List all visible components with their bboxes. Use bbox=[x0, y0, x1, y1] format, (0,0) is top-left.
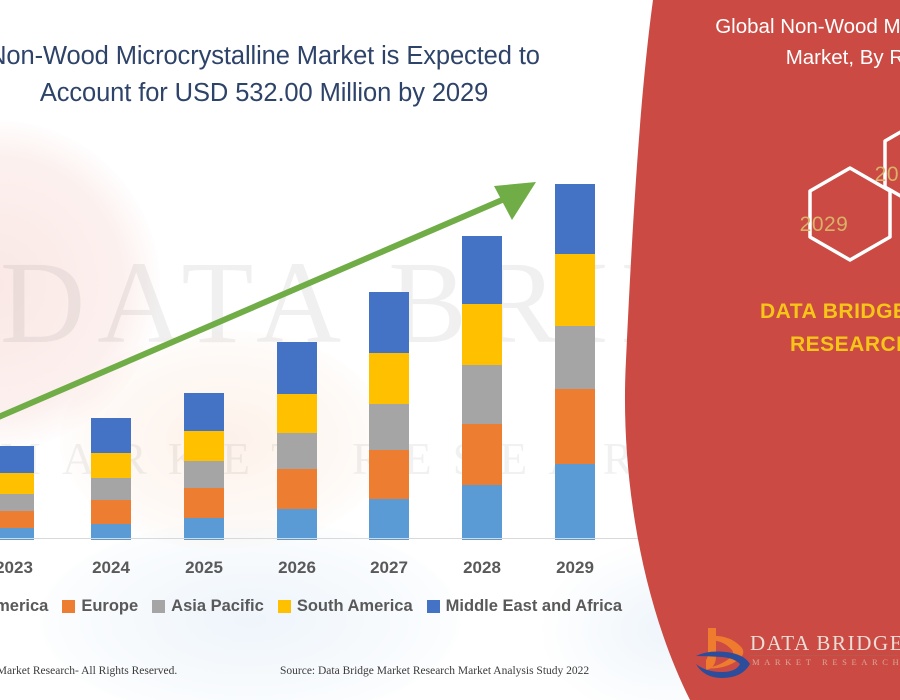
legend-swatch-icon bbox=[152, 600, 165, 613]
stacked-bar-chart bbox=[0, 150, 640, 540]
bar-segment bbox=[277, 433, 317, 469]
bar-segment bbox=[0, 446, 34, 474]
bar-2024 bbox=[91, 418, 131, 540]
bar-segment bbox=[0, 494, 34, 511]
legend-label: South America bbox=[297, 598, 413, 615]
bar-segment bbox=[91, 418, 131, 453]
footer-source: Source: Data Bridge Market Research Mark… bbox=[280, 665, 589, 677]
data-bridge-logo: DATA BRIDGE MARKET RESEARCH bbox=[694, 626, 900, 684]
legend-label: Middle East and Africa bbox=[446, 598, 622, 615]
bar-segment bbox=[555, 326, 595, 389]
hexagon-label-2022: 2022 bbox=[875, 163, 900, 187]
footer-copyright: ...Bridge Market Research- All Rights Re… bbox=[0, 665, 177, 677]
logo-tagline: MARKET RESEARCH bbox=[752, 657, 900, 667]
logo-mark-icon bbox=[694, 626, 754, 684]
bar-2027 bbox=[369, 292, 409, 540]
bar-2028 bbox=[462, 236, 502, 540]
bar-2025 bbox=[184, 393, 224, 541]
panel-brand-line-2: RESEARCH bbox=[790, 333, 900, 357]
x-axis-label-2025: 2025 bbox=[185, 558, 223, 578]
bar-segment bbox=[369, 499, 409, 540]
bar-segment bbox=[462, 424, 502, 485]
page-title: Non-Wood Microcrystalline Market is Expe… bbox=[0, 38, 614, 112]
bar-segment bbox=[184, 488, 224, 518]
bar-segment bbox=[277, 394, 317, 433]
bar-segment bbox=[462, 304, 502, 365]
bar-segment bbox=[555, 389, 595, 465]
legend-item[interactable]: Asia Pacific bbox=[152, 598, 264, 615]
bar-segment bbox=[277, 509, 317, 540]
bar-segment bbox=[184, 518, 224, 540]
legend-swatch-icon bbox=[62, 600, 75, 613]
bar-segment bbox=[462, 365, 502, 424]
legend-swatch-icon bbox=[427, 600, 440, 613]
bar-segment bbox=[277, 469, 317, 508]
bar-segment bbox=[369, 353, 409, 404]
bar-segment bbox=[369, 450, 409, 499]
chart-legend: North AmericaEuropeAsia PacificSouth Ame… bbox=[0, 598, 640, 615]
bar-segment bbox=[369, 292, 409, 353]
bar-segment bbox=[91, 500, 131, 525]
x-axis-label-2028: 2028 bbox=[463, 558, 501, 578]
logo-wordmark: DATA BRIDGE bbox=[750, 631, 900, 656]
bar-2023 bbox=[0, 446, 34, 540]
bar-2026 bbox=[277, 342, 317, 540]
slide-canvas: DATA BRIDGE MARKET RESEARCH Non-Wood Mic… bbox=[0, 0, 900, 700]
x-axis-label-2029: 2029 bbox=[556, 558, 594, 578]
legend-item[interactable]: Europe bbox=[62, 598, 138, 615]
legend-swatch-icon bbox=[278, 600, 291, 613]
bar-segment bbox=[0, 511, 34, 529]
bar-segment bbox=[462, 236, 502, 304]
hexagon-label-2029: 2029 bbox=[800, 213, 849, 237]
legend-label: Asia Pacific bbox=[171, 598, 264, 615]
legend-label: Europe bbox=[81, 598, 138, 615]
bar-segment bbox=[184, 393, 224, 431]
bar-segment bbox=[277, 342, 317, 393]
bar-segment bbox=[555, 254, 595, 326]
bar-segment bbox=[0, 473, 34, 494]
x-axis-label-2027: 2027 bbox=[370, 558, 408, 578]
bar-segment bbox=[369, 404, 409, 449]
panel-title: Global Non-Wood Microcrystalline Market,… bbox=[705, 12, 900, 74]
x-axis-label-2026: 2026 bbox=[278, 558, 316, 578]
x-axis-line bbox=[0, 538, 640, 539]
panel-brand-line-1: DATA BRIDGE bbox=[760, 300, 900, 324]
legend-label: North America bbox=[0, 598, 48, 615]
bar-segment bbox=[91, 478, 131, 500]
legend-item[interactable]: Middle East and Africa bbox=[427, 598, 622, 615]
x-axis-labels: 2023202420252026202720282029 bbox=[0, 558, 640, 584]
bar-segment bbox=[91, 453, 131, 478]
x-axis-label-2023: 2023 bbox=[0, 558, 33, 578]
legend-item[interactable]: South America bbox=[278, 598, 413, 615]
bar-segment bbox=[184, 461, 224, 488]
logo-divider bbox=[750, 655, 898, 656]
x-axis-label-2024: 2024 bbox=[92, 558, 130, 578]
bar-2029 bbox=[555, 184, 595, 540]
legend-item[interactable]: North America bbox=[0, 598, 48, 615]
bar-segment bbox=[462, 485, 502, 540]
bar-segment bbox=[555, 184, 595, 254]
bar-segment bbox=[555, 464, 595, 540]
bar-segment bbox=[184, 431, 224, 461]
